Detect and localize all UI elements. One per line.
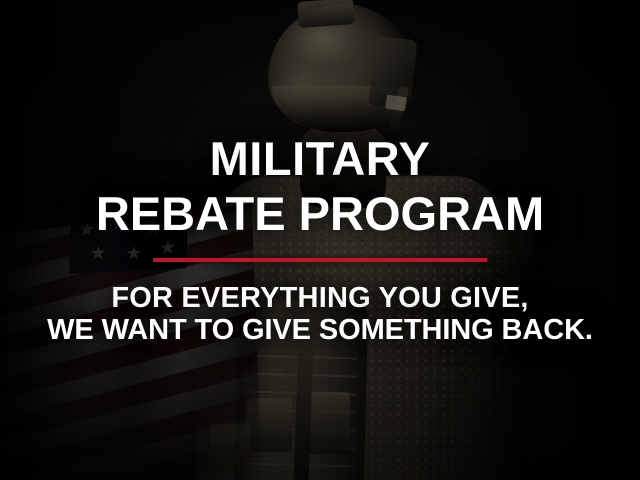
page-title: MILITARY REBATE PROGRAM (96, 131, 544, 241)
promo-poster: ★ ★ ★ ★ ★ ★ MILITARY REBATE PROGRAM FOR … (0, 0, 640, 480)
page-subtitle: FOR EVERYTHING YOU GIVE, WE WANT TO GIVE… (47, 282, 593, 346)
subhead-line-1: FOR EVERYTHING YOU GIVE, (47, 282, 593, 314)
poster-content: MILITARY REBATE PROGRAM FOR EVERYTHING Y… (0, 0, 640, 480)
headline-line-1: MILITARY (96, 131, 544, 186)
red-divider-rule (153, 258, 487, 262)
subhead-line-2: WE WANT TO GIVE SOMETHING BACK. (47, 314, 593, 346)
headline-line-2: REBATE PROGRAM (96, 186, 544, 241)
